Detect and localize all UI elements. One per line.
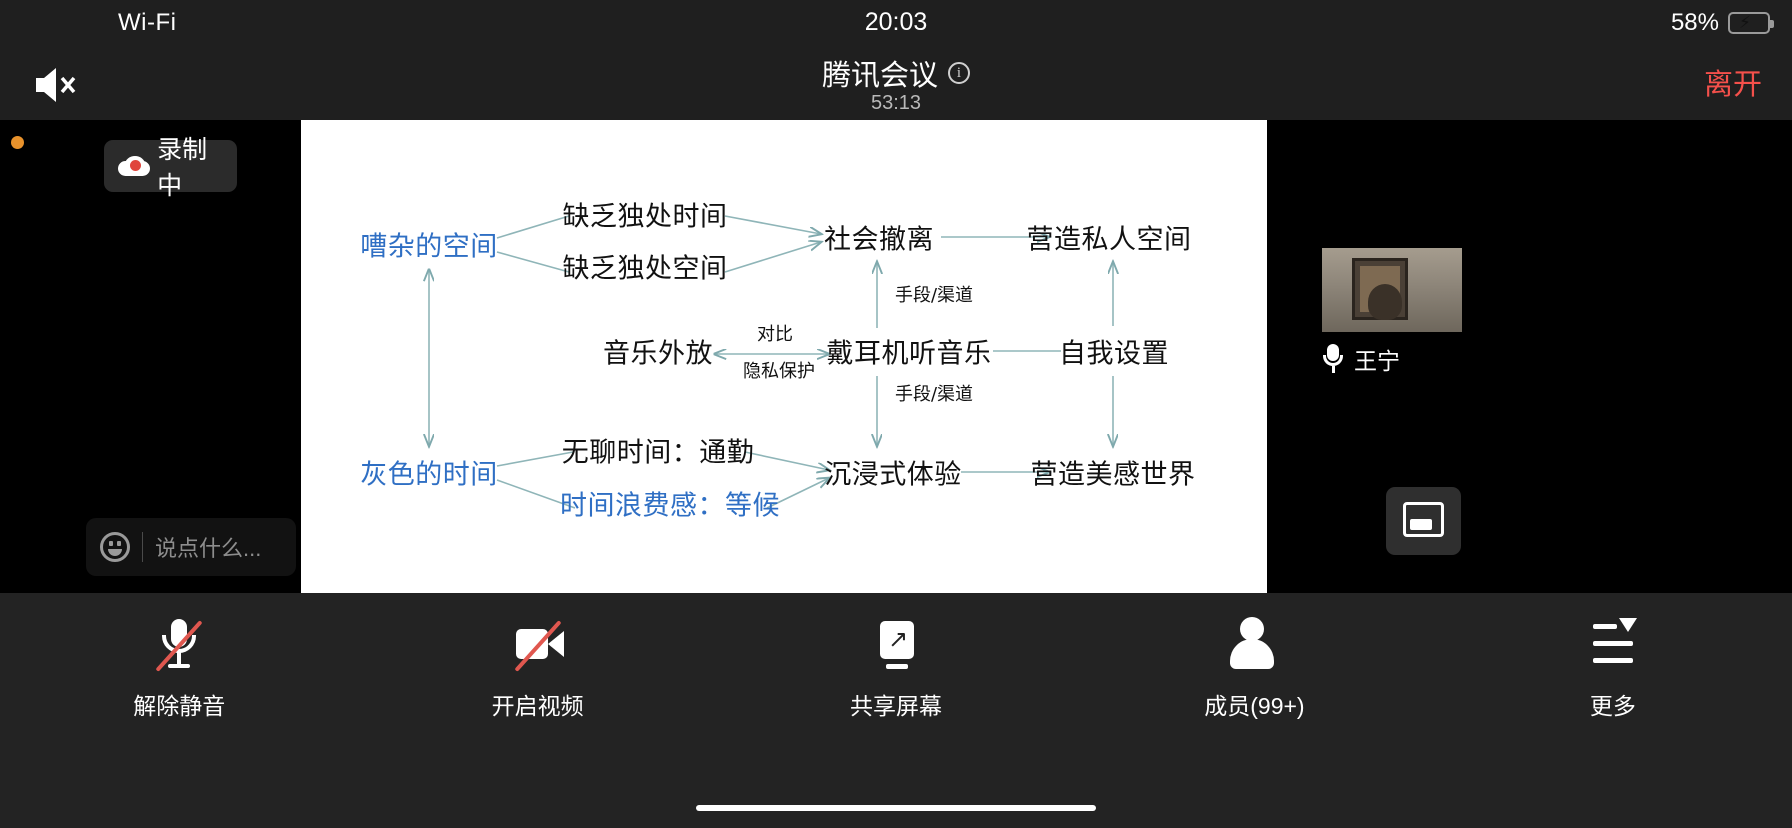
diagram-node: 灰色的时间 xyxy=(360,453,498,492)
participant-name: 王宁 xyxy=(1354,342,1400,376)
emoji-icon[interactable] xyxy=(100,532,130,562)
meeting-title-group: 腾讯会议 i xyxy=(0,52,1792,94)
diagram-node: 营造私人空间 xyxy=(1027,218,1192,257)
participant-name-row: 王宁 xyxy=(1322,342,1502,376)
participants-button[interactable]: 成员(99+) xyxy=(1075,615,1433,721)
toolbar-label: 开启视频 xyxy=(492,687,584,721)
diagram-node: 沉浸式体验 xyxy=(824,453,962,492)
chat-input[interactable]: 说点什么... xyxy=(86,518,296,576)
status-clock: 20:03 xyxy=(0,8,1792,37)
leave-meeting-button[interactable]: 离开 xyxy=(1704,61,1762,103)
chat-input-placeholder: 说点什么... xyxy=(155,531,261,563)
toolbar-label: 共享屏幕 xyxy=(850,687,942,721)
diagram-edge-label: 隐私保护 xyxy=(743,357,815,383)
camera-off-icon xyxy=(506,615,570,673)
mind-map-diagram: 嘈杂的空间 缺乏独处时间 缺乏独处空间 社会撤离 营造私人空间 音乐外放 戴耳机… xyxy=(301,120,1267,593)
diagram-node: 社会撤离 xyxy=(824,218,934,257)
info-icon[interactable]: i xyxy=(948,62,970,84)
home-indicator xyxy=(696,805,1096,811)
more-icon xyxy=(1581,615,1645,673)
recording-label: 录制中 xyxy=(157,130,223,202)
share-screen-icon: ↗ xyxy=(864,615,928,673)
meeting-timer: 53:13 xyxy=(0,92,1792,115)
diagram-node: 缺乏独处时间 xyxy=(563,195,728,234)
diagram-node: 音乐外放 xyxy=(603,332,713,371)
diagram-edge-label: 手段/渠道 xyxy=(895,281,973,307)
diagram-node: 缺乏独处空间 xyxy=(563,247,728,286)
diagram-node: 时间浪费感：等候 xyxy=(560,484,780,523)
battery-percent-label: 58% xyxy=(1671,9,1719,37)
toolbar-label: 解除静音 xyxy=(133,687,225,721)
participants-icon xyxy=(1222,615,1286,673)
diagram-node: 营造美感世界 xyxy=(1031,453,1196,492)
bottom-toolbar: 解除静音 开启视频 ↗ 共享屏幕 成员(99+) xyxy=(0,593,1792,828)
mic-muted-icon xyxy=(147,615,211,673)
microphone-icon xyxy=(1322,344,1344,374)
diagram-node: 自我设置 xyxy=(1059,332,1169,371)
layout-switch-icon xyxy=(1403,502,1444,537)
recording-status-dot xyxy=(11,136,24,149)
diagram-node: 无聊时间：通勤 xyxy=(562,431,755,470)
status-bar: Wi-Fi 20:03 58% ⚡ xyxy=(0,0,1792,48)
share-screen-button[interactable]: ↗ 共享屏幕 xyxy=(717,615,1075,721)
start-video-button[interactable]: 开启视频 xyxy=(358,615,716,721)
participant-video-tile[interactable] xyxy=(1322,248,1462,332)
diagram-edge-label: 手段/渠道 xyxy=(895,380,973,406)
toolbar-label: 更多 xyxy=(1590,687,1636,721)
layout-switch-button[interactable] xyxy=(1386,487,1461,555)
unmute-button[interactable]: 解除静音 xyxy=(0,615,358,721)
diagram-node: 嘈杂的空间 xyxy=(360,225,498,264)
battery-charging-icon: ⚡ xyxy=(1728,12,1770,34)
page-title: 腾讯会议 xyxy=(822,52,938,94)
status-battery-group: 58% ⚡ xyxy=(1671,9,1770,37)
meeting-header: 腾讯会议 i 53:13 离开 xyxy=(0,48,1792,120)
more-button[interactable]: 更多 xyxy=(1434,615,1792,721)
meeting-screen: Wi-Fi 20:03 58% ⚡ 腾讯会议 i 53:13 离开 录制中 xyxy=(0,0,1792,828)
recording-badge[interactable]: 录制中 xyxy=(104,140,237,192)
shared-screen-content[interactable]: 嘈杂的空间 缺乏独处时间 缺乏独处空间 社会撤离 营造私人空间 音乐外放 戴耳机… xyxy=(301,120,1267,593)
toolbar-label: 成员(99+) xyxy=(1204,687,1304,721)
cloud-record-icon xyxy=(118,156,146,176)
diagram-node: 戴耳机听音乐 xyxy=(827,332,992,371)
diagram-edge-label: 对比 xyxy=(757,320,793,346)
